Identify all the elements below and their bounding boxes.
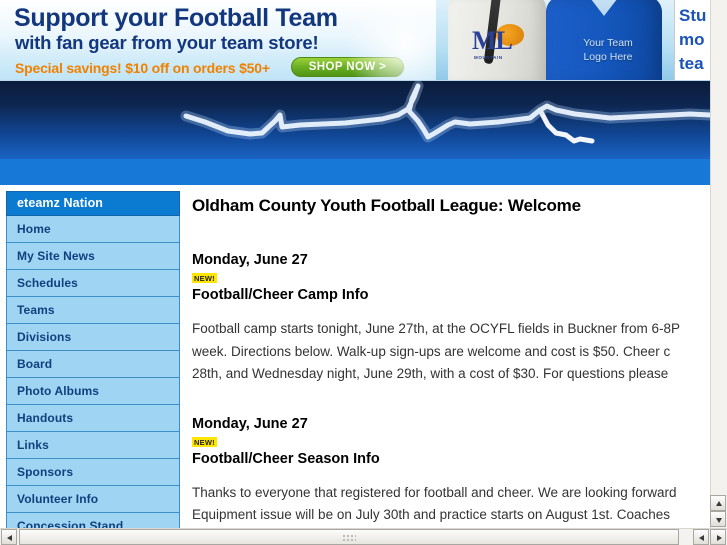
sidebar-item-my-site-news[interactable]: My Site News: [6, 243, 180, 270]
white-jersey-image: ML MOUNTAIN: [448, 0, 546, 81]
lightning-bolt-icon: [0, 81, 710, 159]
sidebar-item-photo-albums[interactable]: Photo Albums: [6, 378, 180, 405]
secondary-ad-line-2: mo: [679, 30, 705, 50]
jersey-text-line2: Logo Here: [583, 51, 632, 63]
vertical-scroll-track[interactable]: [710, 0, 727, 528]
triangle-left-icon: [7, 535, 12, 541]
article-body: Football camp starts tonight, June 27th,…: [192, 318, 727, 386]
horizontal-scroll-thumb[interactable]: [19, 529, 679, 545]
ad-headline: Support your Football Team: [14, 4, 338, 33]
sidebar-item-links[interactable]: Links: [6, 432, 180, 459]
triangle-left-icon: [699, 535, 704, 541]
sidebar-item-sponsors[interactable]: Sponsors: [6, 459, 180, 486]
sidebar-item-volunteer-info[interactable]: Volunteer Info: [6, 486, 180, 513]
logo-letters: ML: [472, 26, 512, 56]
sidebar-item-teams[interactable]: Teams: [6, 297, 180, 324]
article-body-line: 28th, and Wednesday night, June 29th, wi…: [192, 363, 727, 386]
main-content: Oldham County Youth Football League: Wel…: [192, 191, 727, 545]
ad-subheadline: with fan gear from your team store!: [15, 32, 318, 54]
article-body-line: Thanks to everyone that registered for f…: [192, 482, 727, 505]
triangle-down-icon: [716, 518, 722, 523]
jersey-text-line1: Your Team: [583, 37, 633, 49]
page-horizontal-scrollbar[interactable]: [0, 528, 727, 545]
article-body-line: Football camp starts tonight, June 27th,…: [192, 318, 727, 341]
advertisement-banner[interactable]: Support your Football Team with fan gear…: [0, 0, 710, 81]
article-body-line: Equipment issue will be on July 30th and…: [192, 504, 727, 527]
page-title: Oldham County Youth Football League: Wel…: [192, 196, 727, 216]
scroll-right-button[interactable]: [710, 529, 726, 545]
page-body: eteamz Nation Home My Site News Schedule…: [0, 185, 710, 528]
new-badge: NEW!: [192, 273, 217, 283]
sidebar-item-home[interactable]: Home: [6, 216, 180, 243]
jersey-placeholder-text: Your Team Logo Here: [568, 36, 648, 64]
sidebar-item-board[interactable]: Board: [6, 351, 180, 378]
ad-offer-text: Special savings! $10 off on orders $50+: [15, 60, 270, 76]
logo-subtext: MOUNTAIN: [474, 55, 503, 60]
scroll-down-button[interactable]: [710, 511, 726, 527]
article-date: Monday, June 27: [192, 252, 727, 268]
page-vertical-scrollbar[interactable]: [710, 0, 727, 528]
sidebar-title: eteamz Nation: [6, 191, 180, 216]
sidebar-navigation: eteamz Nation Home My Site News Schedule…: [6, 191, 180, 545]
sidebar-item-schedules[interactable]: Schedules: [6, 270, 180, 297]
article-headline[interactable]: Football/Cheer Camp Info: [192, 287, 727, 303]
sidebar-item-handouts[interactable]: Handouts: [6, 405, 180, 432]
ad-text-panel[interactable]: Support your Football Team with fan gear…: [0, 0, 436, 81]
article-date: Monday, June 27: [192, 416, 727, 432]
sidebar-item-divisions[interactable]: Divisions: [6, 324, 180, 351]
shop-now-button[interactable]: SHOP NOW >: [291, 57, 404, 77]
browser-viewport: Support your Football Team with fan gear…: [0, 0, 727, 545]
scroll-up-button[interactable]: [710, 495, 726, 511]
site-header-banner: [0, 81, 710, 159]
article-body-line: week. Directions below. Walk-up sign-ups…: [192, 341, 727, 364]
new-badge: NEW!: [192, 437, 217, 447]
scroll-left-button[interactable]: [1, 529, 17, 545]
article-headline[interactable]: Football/Cheer Season Info: [192, 451, 727, 467]
secondary-ad-line-1: Stu: [679, 6, 706, 26]
triangle-right-icon: [717, 535, 722, 541]
triangle-up-icon: [716, 501, 722, 506]
scroll-left-button-secondary[interactable]: [693, 529, 709, 545]
secondary-ad-line-3: tea: [679, 54, 704, 74]
blue-jersey-image: Your Team Logo Here: [546, 0, 662, 81]
ad-jersey-photo: ML MOUNTAIN Your Team Logo Here: [436, 0, 674, 81]
grip-dots-icon: [342, 534, 356, 542]
secondary-ad-panel[interactable]: Stu mo tea: [674, 0, 710, 81]
header-accent-band: [0, 159, 710, 185]
team-logo-graphic: ML MOUNTAIN: [470, 24, 534, 64]
